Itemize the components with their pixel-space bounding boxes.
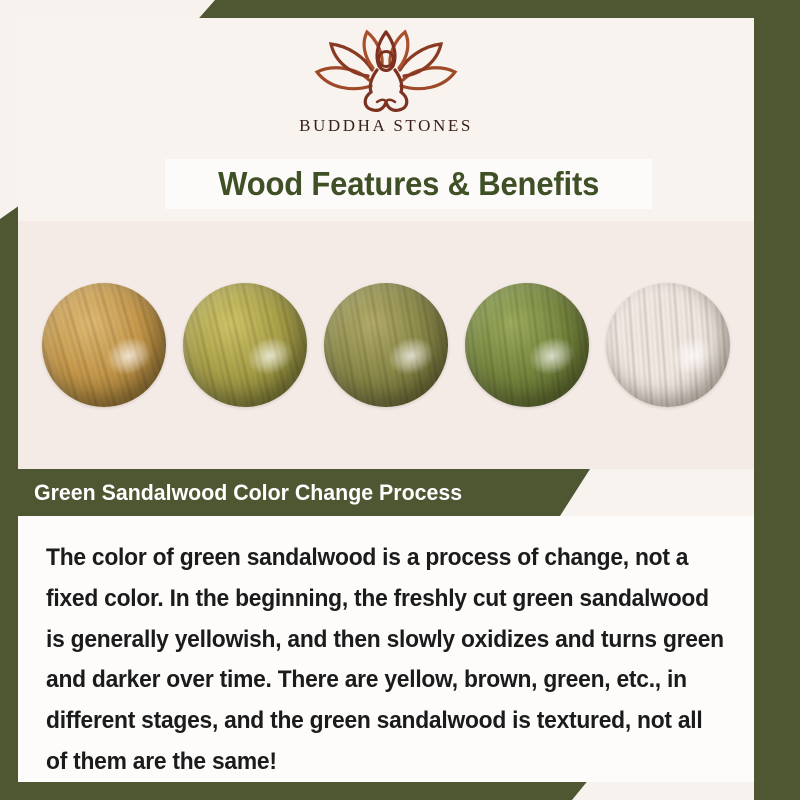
- section-label-bar: Green Sandalwood Color Change Process: [18, 469, 754, 516]
- bead-swatch-2: [183, 283, 307, 407]
- bead-shading: [606, 283, 730, 407]
- bead-gallery: [18, 221, 754, 469]
- bead-swatch-3: [324, 283, 448, 407]
- bead-swatch-4: [465, 283, 589, 407]
- title-banner: Wood Features & Benefits: [165, 159, 652, 209]
- description-card: The color of green sandalwood is a proce…: [18, 516, 754, 782]
- lotus-meditation-figure-icon: [311, 26, 461, 114]
- bead-shading: [324, 283, 448, 407]
- frame-band-right: [754, 0, 800, 800]
- section-label-text: Green Sandalwood Color Change Process: [34, 469, 462, 516]
- bead-shading: [183, 283, 307, 407]
- page-content: BUDDHA STONES Wood Features & Benefits: [18, 18, 754, 782]
- bead-shading: [42, 283, 166, 407]
- bead-shading: [465, 283, 589, 407]
- page-title: Wood Features & Benefits: [218, 165, 599, 203]
- brand-name: BUDDHA STONES: [299, 116, 473, 136]
- description-paragraph: The color of green sandalwood is a proce…: [46, 538, 724, 783]
- frame-corner-bottom-right: [754, 756, 800, 800]
- bead-swatch-5: [606, 283, 730, 407]
- bead-swatch-1: [42, 283, 166, 407]
